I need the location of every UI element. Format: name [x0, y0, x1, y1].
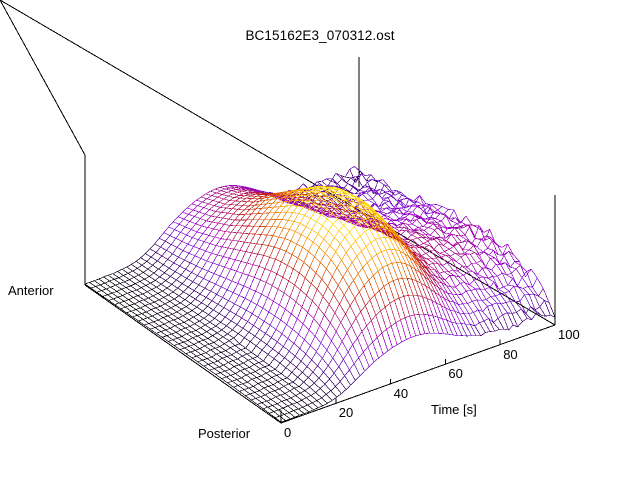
x-tick-label: 60	[448, 366, 462, 381]
axis-label-anterior: Anterior	[8, 283, 54, 298]
x-tick-label: 100	[558, 327, 580, 342]
mesh-lines	[113, 261, 332, 410]
mesh-lines	[173, 190, 543, 362]
surface-plot-figure: BC15162E3_070312.ost Anterior Posterior …	[0, 0, 640, 480]
x-tick-label: 40	[394, 386, 408, 401]
axes-box-frame	[0, 0, 555, 423]
surface-mesh	[85, 167, 555, 423]
x-tick-label: 0	[284, 425, 291, 440]
axis-label-time: Time [s]	[431, 402, 477, 417]
mesh-lines	[150, 244, 555, 390]
axis-label-posterior: Posterior	[198, 426, 250, 441]
plot-canvas	[0, 0, 640, 480]
x-tick-label: 20	[339, 405, 353, 420]
x-tick-label: 80	[503, 347, 517, 362]
mesh-lines	[334, 192, 357, 206]
